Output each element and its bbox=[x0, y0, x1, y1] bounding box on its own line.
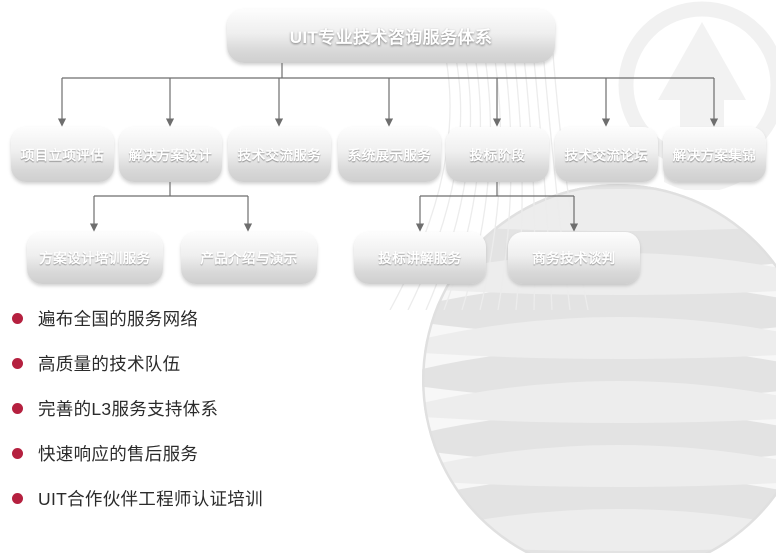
node-tech-exchange-service[interactable]: 技术交流服务 bbox=[232, 130, 327, 177]
node-bidding-stage[interactable]: 投标阶段 bbox=[450, 130, 545, 177]
bullet-dot-icon bbox=[12, 493, 23, 504]
list-item-label: 遍布全国的服务网络 bbox=[38, 306, 198, 331]
list-item: UIT合作伙伴工程师认证培训 bbox=[12, 476, 442, 521]
node-system-demo-service[interactable]: 系统展示服务 bbox=[342, 130, 437, 177]
node-design-training-service[interactable]: 方案设计培训服务 bbox=[31, 235, 159, 279]
list-item-label: 完善的L3服务支持体系 bbox=[38, 396, 218, 421]
diagram-canvas: UIT专业技术咨询服务体系 项目立项评估 解决方案设计 技术交流服务 系统展示服… bbox=[0, 0, 776, 553]
list-item-label: UIT合作伙伴工程师认证培训 bbox=[38, 486, 263, 511]
node-business-tech-negotiation[interactable]: 商务技术谈判 bbox=[512, 235, 636, 279]
bullet-dot-icon bbox=[12, 448, 23, 459]
bullet-dot-icon bbox=[12, 358, 23, 369]
list-item: 高质量的技术队伍 bbox=[12, 341, 442, 386]
node-solution-design[interactable]: 解决方案设计 bbox=[123, 130, 218, 177]
node-product-intro-demo[interactable]: 产品介绍与演示 bbox=[185, 235, 313, 279]
node-project-evaluation[interactable]: 项目立项评估 bbox=[15, 130, 110, 177]
node-tech-exchange-forum[interactable]: 技术交流论坛 bbox=[559, 130, 654, 177]
list-item: 遍布全国的服务网络 bbox=[12, 296, 442, 341]
node-bid-presentation-service[interactable]: 投标讲解服务 bbox=[358, 235, 482, 279]
list-item: 快速响应的售后服务 bbox=[12, 431, 442, 476]
node-solution-collection[interactable]: 解决方案集锦 bbox=[667, 130, 762, 177]
root-node-service-system[interactable]: UIT专业技术咨询服务体系 bbox=[231, 12, 551, 58]
bullet-dot-icon bbox=[12, 313, 23, 324]
list-item: 完善的L3服务支持体系 bbox=[12, 386, 442, 431]
list-item-label: 快速响应的售后服务 bbox=[38, 441, 198, 466]
highlights-list: 遍布全国的服务网络 高质量的技术队伍 完善的L3服务支持体系 快速响应的售后服务… bbox=[12, 296, 442, 521]
bullet-dot-icon bbox=[12, 403, 23, 414]
list-item-label: 高质量的技术队伍 bbox=[38, 351, 180, 376]
